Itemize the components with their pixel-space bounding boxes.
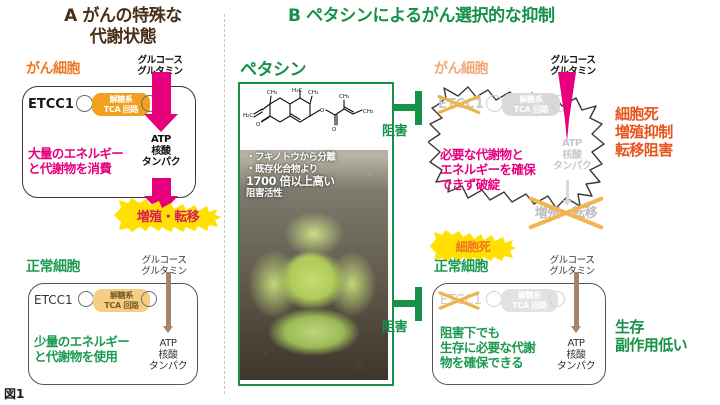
chem-label-ch3-b: CH₃ (308, 90, 318, 96)
panel-b-normal-nutrient: グルコース グルタミン (530, 255, 614, 277)
panel-a-cancer-label: がん細胞 (26, 58, 80, 78)
panel-b-title: B ペタシンによるがん選択的な抑制 (288, 6, 618, 27)
panel-b-cancer-products: ATP 核酸 タンパク (540, 138, 604, 173)
petasin-image-box: CH₃ H₂C H₃C CH₃ CH₃ CH₃ O O O ・フキノトウから分離… (238, 82, 394, 386)
panel-divider (224, 14, 225, 394)
chem-label-o-carbonyl: O (332, 127, 337, 133)
panel-b-cancer-cycle-left (486, 95, 503, 112)
panel-a-normal-nutrient: グルコース グルタミン (122, 255, 206, 277)
petasin-bullet-3: 1700 倍以上高い (246, 175, 386, 188)
chem-label-ch3-d: CH₃ (363, 109, 373, 115)
chem-label-ch3: CH₃ (267, 90, 277, 96)
chem-label-h3c: H₃C (292, 88, 302, 94)
panel-a-normal-label: 正常細胞 (26, 256, 80, 276)
panel-a-normal-products: ATP 核酸 タンパク (137, 338, 199, 373)
panel-b-normal-products: ATP 核酸 タンパク (545, 338, 607, 373)
panel-b-normal-cycle-right (549, 291, 565, 307)
panel-b-normal-cycle-left (486, 291, 502, 307)
panel-a-cancer-products: ATP 核酸 タンパク (129, 134, 193, 169)
panel-a-cancer-etcc: ETCC1 (28, 97, 74, 112)
inhibition-top-label: 阻害 (382, 120, 407, 139)
petasin-title: ペタシン (240, 55, 306, 80)
conclusion-normal: 生存 副作用低い (615, 318, 687, 354)
petasin-bullet-list: ・フキノトウから分離 ・既存化合物より 1700 倍以上高い 阻害活性 (246, 152, 386, 200)
panel-b-cancer-note: 必要な代謝物と エネルギーを確保 できず破綻 (440, 147, 535, 192)
panel-a-title-line2: 代謝状態 (18, 27, 228, 48)
panel-a-normal-flux-arrow-head (163, 326, 173, 333)
chem-label-ch3-c: CH₃ (339, 94, 349, 100)
inhibition-bottom-bar (415, 287, 422, 321)
figure-canvas: A がんの特殊な 代謝状態 B ペタシンによるがん選択的な抑制 がん細胞 グルコ… (0, 0, 720, 405)
panel-a-title-line1: A がんの特殊な (18, 6, 228, 27)
chem-label-h2c: H₂C (243, 113, 253, 119)
panel-a-cancer-flux-arrow-head (144, 114, 178, 132)
panel-b-cancer-flux-arrow-tapered (550, 72, 584, 146)
panel-a-outcome-text: 増殖・転移 (114, 198, 222, 232)
panel-b-normal-note: 阻害下でも 生存に必要な代謝 物を確保できる (440, 325, 535, 370)
chem-label-o-ester: O (320, 108, 325, 114)
chem-label-o-ketone: O (256, 122, 261, 128)
panel-a-cancer-flux-arrow-shaft (152, 72, 171, 116)
panel-a-normal-cycle-left (78, 291, 94, 307)
panel-a-normal-cycle-right (141, 291, 157, 307)
panel-a-cancer-cycle-left (76, 95, 93, 112)
conclusion-cancer: 細胞死 増殖抑制 転移阻害 (615, 105, 673, 159)
panel-b-normal-label: 正常細胞 (434, 256, 488, 276)
inhibition-top-bar (415, 91, 422, 125)
panel-a-cancer-note: 大量のエネルギー と代謝物を消費 (28, 146, 123, 176)
panel-a-outcome-burst: 増殖・転移 (114, 198, 222, 232)
etcc-inhibited-cross-icon-normal (437, 290, 481, 307)
panel-b-blocked-outcome: 増殖・転移 (524, 198, 608, 226)
panel-b-cancer-label: がん細胞 (434, 58, 488, 78)
panel-a-normal-note: 少量のエネルギー と代謝物を使用 (34, 334, 129, 364)
panel-a-normal-flux-arrow-shaft (166, 272, 171, 328)
petasin-bullet-4: 阻害活性 (246, 188, 386, 200)
etcc-inhibited-cross-icon (436, 94, 482, 112)
panel-b-normal-flux-arrow-head (571, 326, 581, 333)
panel-a-normal-etcc: ETCC1 (34, 293, 73, 307)
petasin-bullet-1: ・フキノトウから分離 (246, 152, 386, 164)
inhibition-bottom-label: 阻害 (382, 316, 407, 335)
outcome-blocked-cross-icon (526, 198, 606, 224)
panel-b-normal-flux-arrow-shaft (574, 272, 579, 328)
panel-a-title: A がんの特殊な 代謝状態 (18, 6, 228, 48)
figure-caption: 図1 (4, 385, 24, 402)
petasin-chemical-structure: CH₃ H₂C H₃C CH₃ CH₃ CH₃ O O O (240, 84, 388, 154)
